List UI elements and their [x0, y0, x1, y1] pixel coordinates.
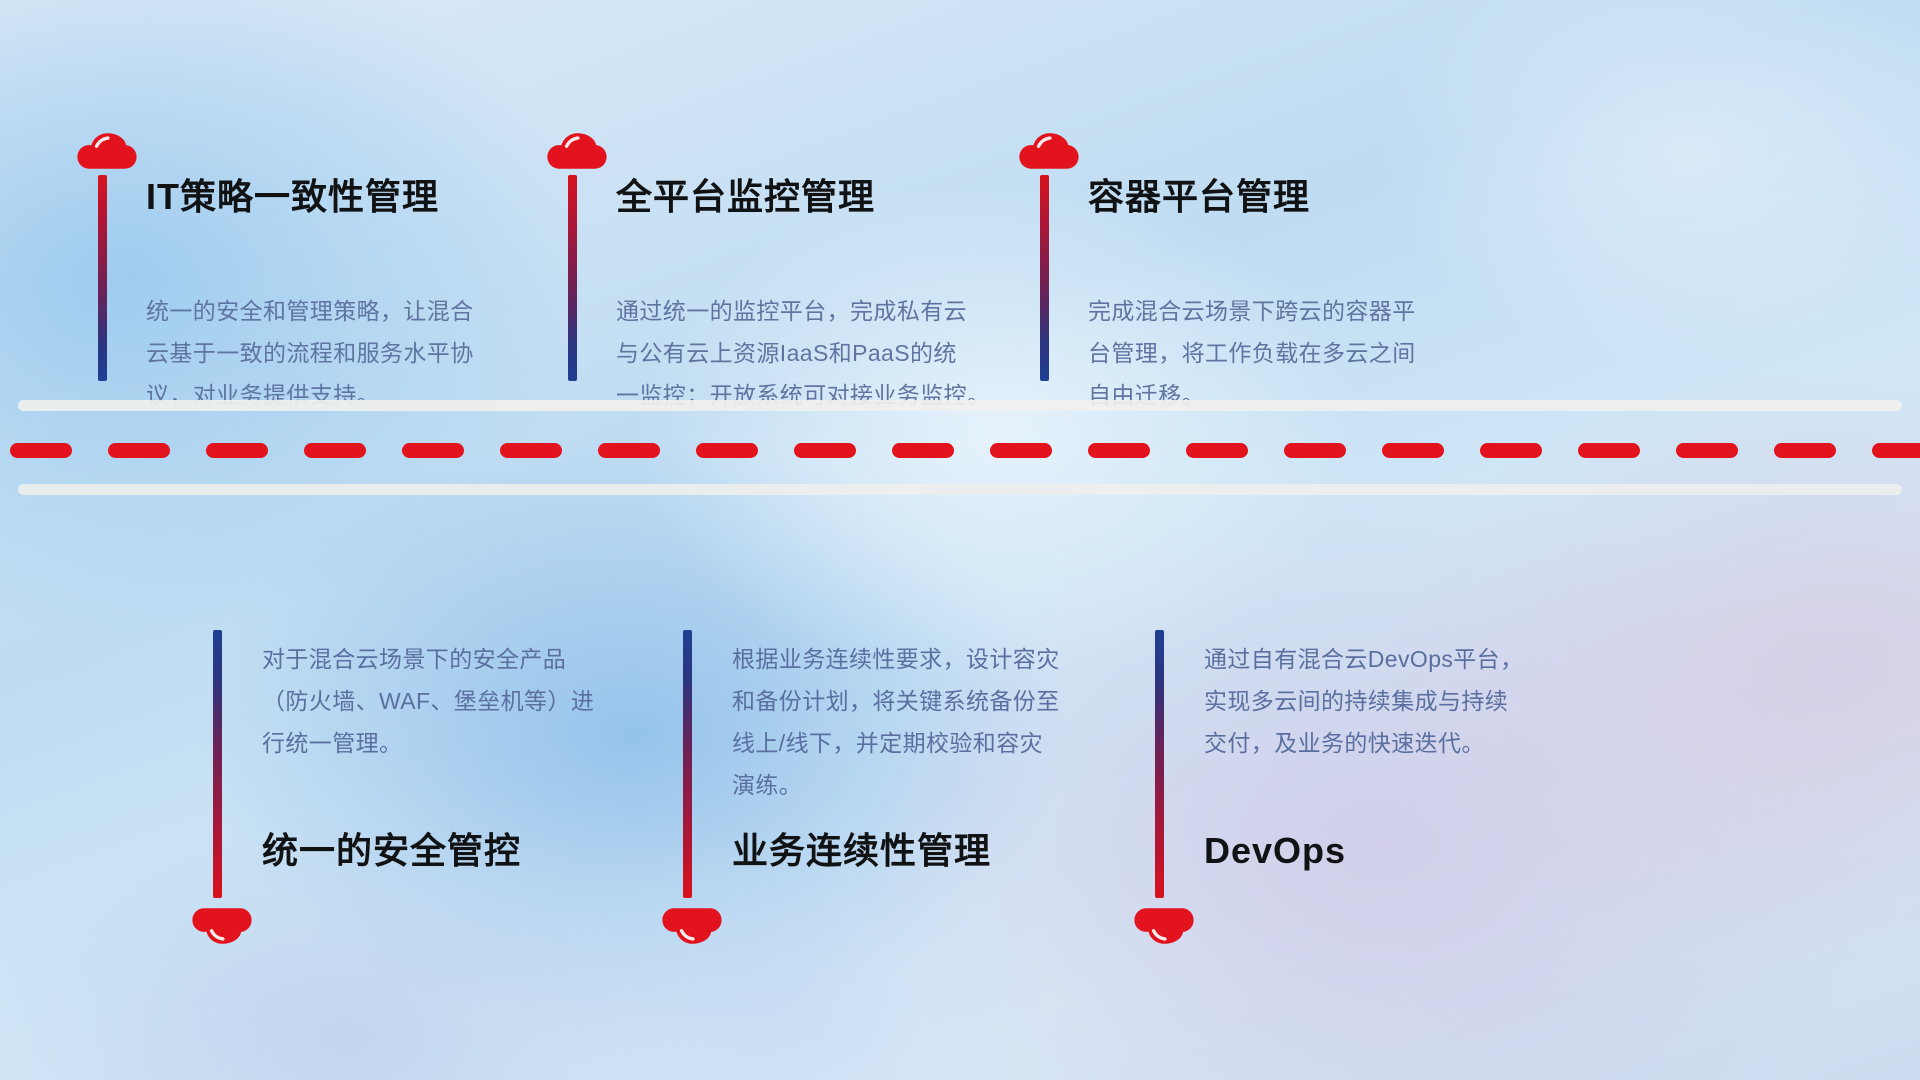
connector-stem	[683, 630, 692, 898]
connector-stem	[98, 175, 107, 381]
top-item-3-title: 容器平台管理	[1088, 179, 1310, 215]
top-item-2-body: 通过统一的监控平台，完成私有云 与公有云上资源IaaS和PaaS的统 一监控；开…	[616, 290, 1036, 416]
cloud-icon	[1133, 896, 1195, 946]
cloud-icon	[1018, 131, 1080, 181]
background-glow-bottomcenter	[0, 0, 1920, 1080]
top-item-1-body: 统一的安全和管理策略，让混合 云基于一致的流程和服务水平协 议，对业务提供支持。	[146, 290, 546, 416]
bottom-item-1-body: 对于混合云场景下的安全产品 （防火墙、WAF、堡垒机等）进 行统一管理。	[262, 638, 672, 764]
connector-stem	[1040, 175, 1049, 381]
cloud-icon	[661, 896, 723, 946]
connector-stem	[1155, 630, 1164, 898]
cloud-icon	[546, 131, 608, 181]
cloud-icon	[191, 896, 253, 946]
bottom-item-2-title: 业务连续性管理	[732, 833, 991, 869]
connector-stem	[213, 630, 222, 898]
top-item-1-title: IT策略一致性管理	[146, 179, 439, 215]
bottom-item-1-title: 统一的安全管控	[262, 833, 521, 869]
cloud-icon	[76, 131, 138, 181]
top-item-3-body: 完成混合云场景下跨云的容器平 台管理，将工作负载在多云之间 自由迁移。	[1088, 290, 1508, 416]
top-item-2-title: 全平台监控管理	[616, 179, 875, 215]
bottom-item-2-body: 根据业务连续性要求，设计容灾 和备份计划，将关键系统备份至 线上/线下，并定期校…	[732, 638, 1152, 806]
bottom-item-3-body: 通过自有混合云DevOps平台， 实现多云间的持续集成与持续 交付，及业务的快速…	[1204, 638, 1624, 764]
bottom-item-3-title: DevOps	[1204, 833, 1346, 869]
connector-stem	[568, 175, 577, 381]
